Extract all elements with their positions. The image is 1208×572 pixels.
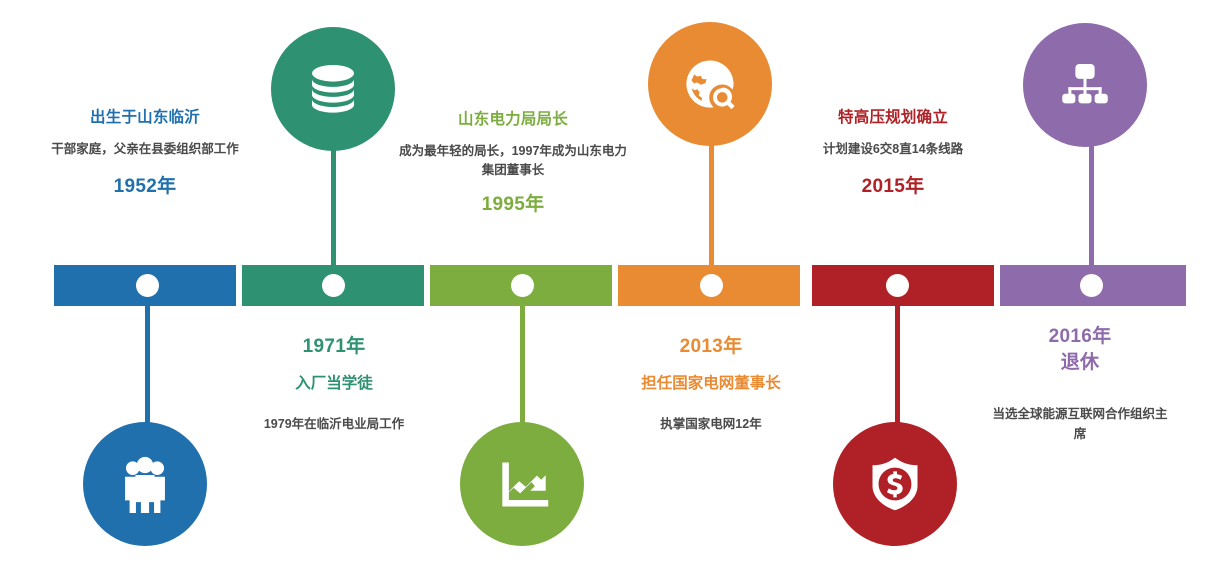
timeline-marker-dot-4 [700, 274, 723, 297]
connector-stem-3 [520, 300, 525, 428]
timeline-marker-dot-5 [886, 274, 909, 297]
segment-description-2015: 计划建设6交8直14条线路 [768, 140, 1018, 159]
segment-title-2015: 特高压规划确立 [768, 108, 1018, 129]
connector-stem-2 [331, 140, 336, 268]
timeline-infographic: 出生于山东临沂 干部家庭，父亲在县委组织部工作 1952年 山东电力局局长 成为… [0, 0, 1208, 572]
segment-text-1971: 1971年 入厂当学徒 1979年在临沂电业局工作 [209, 334, 459, 433]
icon-circle-growth-chart[interactable] [460, 422, 584, 546]
segment-description-1971: 1979年在临沂电业局工作 [209, 415, 459, 434]
segment-year-1971: 1971年 [209, 334, 459, 360]
segment-title-2013: 担任国家电网董事长 [586, 374, 836, 395]
segment-year-2013: 2013年 [586, 334, 836, 360]
icon-circle-org-chart[interactable] [1023, 23, 1147, 147]
timeline-marker-dot-1 [136, 274, 159, 297]
segment-description-2013: 执掌国家电网12年 [586, 415, 836, 434]
segment-text-2013: 2013年 担任国家电网董事长 执掌国家电网12年 [586, 334, 836, 433]
segment-text-1995: 山东电力局局长 成为最年轻的局长，1997年成为山东电力集团董事长 1995年 [388, 110, 638, 218]
org-chart-icon [1057, 57, 1113, 113]
icon-circle-globe-search[interactable] [648, 22, 772, 146]
segment-title-2016: 退休 [968, 350, 1192, 376]
segment-title-1952: 出生于山东临沂 [20, 108, 270, 129]
segment-year-1995: 1995年 [388, 193, 638, 218]
segment-year-1952: 1952年 [20, 175, 270, 200]
connector-stem-5 [895, 300, 900, 428]
shield-dollar-icon [865, 454, 925, 514]
segment-description-1995: 成为最年轻的局长，1997年成为山东电力集团董事长 [388, 142, 638, 180]
people-group-icon [116, 455, 174, 513]
segment-description-2016: 当选全球能源互联网合作组织主席 [968, 405, 1192, 444]
segment-text-2016: 2016年 退休 当选全球能源互联网合作组织主席 [968, 324, 1192, 444]
connector-stem-6 [1089, 136, 1094, 268]
icon-circle-database[interactable] [271, 27, 395, 151]
growth-chart-icon [492, 454, 552, 514]
segment-text-2015: 特高压规划确立 计划建设6交8直14条线路 2015年 [768, 108, 1018, 199]
segment-year-2015: 2015年 [768, 175, 1018, 200]
segment-description-1952: 干部家庭，父亲在县委组织部工作 [20, 140, 270, 159]
connector-stem-1 [145, 300, 150, 428]
segment-title-1971: 入厂当学徒 [209, 374, 459, 395]
segment-title-1995: 山东电力局局长 [388, 110, 638, 131]
connector-stem-4 [709, 138, 714, 268]
timeline-marker-dot-2 [322, 274, 345, 297]
timeline-marker-dot-6 [1080, 274, 1103, 297]
segment-year-2016: 2016年 [968, 324, 1192, 350]
timeline-marker-dot-3 [511, 274, 534, 297]
segment-text-1952: 出生于山东临沂 干部家庭，父亲在县委组织部工作 1952年 [20, 108, 270, 199]
globe-search-icon [681, 55, 739, 113]
icon-circle-shield-dollar[interactable] [833, 422, 957, 546]
database-icon [305, 61, 361, 117]
icon-circle-people-group[interactable] [83, 422, 207, 546]
